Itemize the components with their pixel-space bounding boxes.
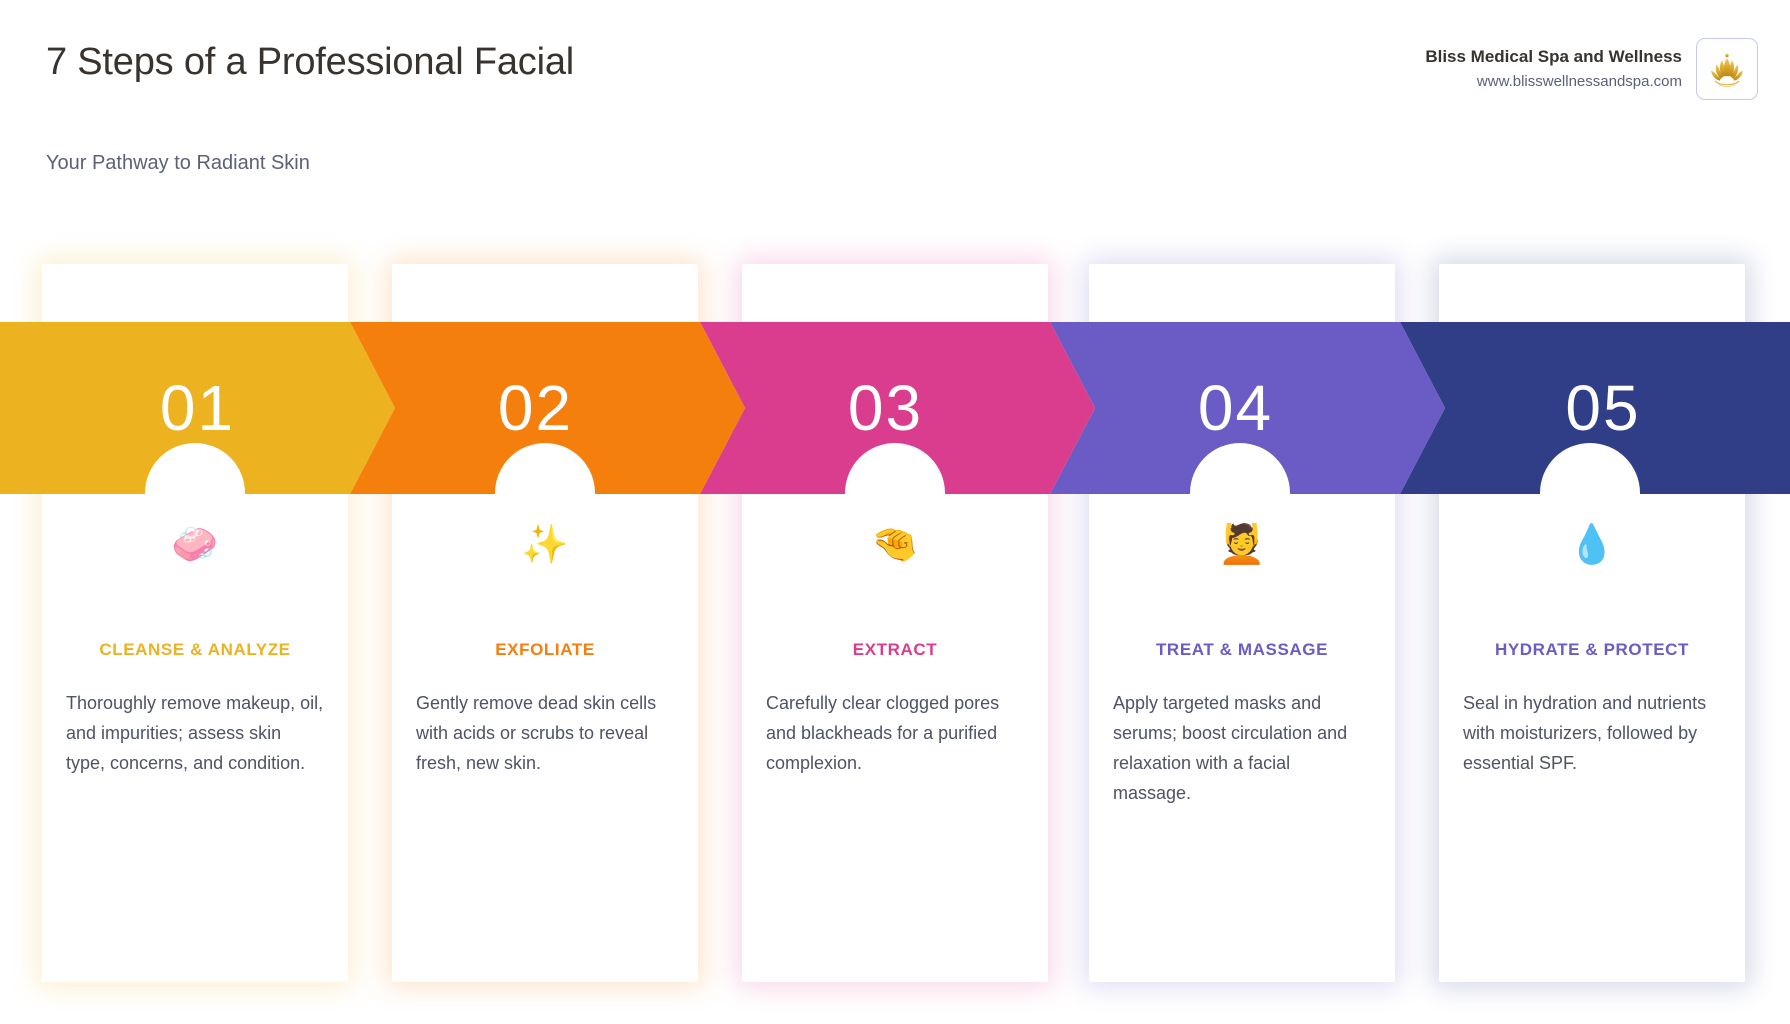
step-title: CLEANSE & ANALYZE [64, 638, 326, 662]
face-massage-icon: 💆 [1111, 522, 1373, 578]
pinching-hand-icon: 🤏 [764, 522, 1026, 578]
step-description: Thoroughly remove makeup, oil, and impur… [64, 688, 326, 778]
step-title: TREAT & MASSAGE [1111, 638, 1373, 662]
infographic-page: 7 Steps of a Professional Facial Your Pa… [0, 0, 1790, 1024]
step-title: EXTRACT [764, 638, 1026, 662]
soap-icon: 🧼 [64, 522, 326, 578]
step-cards: 🧼CLEANSE & ANALYZEThoroughly remove make… [0, 0, 1790, 1024]
step-description: Carefully clear clogged pores and blackh… [764, 688, 1026, 778]
step-title: HYDRATE & PROTECT [1461, 638, 1723, 662]
droplet-icon: 💧 [1461, 522, 1723, 578]
step-description: Gently remove dead skin cells with acids… [414, 688, 676, 778]
step-chevron-band: 0102030405 [0, 322, 1790, 494]
step-description: Seal in hydration and nutrients with moi… [1461, 688, 1723, 778]
sparkles-icon: ✨ [414, 522, 676, 578]
step-title: EXFOLIATE [414, 638, 676, 662]
step-description: Apply targeted masks and serums; boost c… [1111, 688, 1373, 808]
